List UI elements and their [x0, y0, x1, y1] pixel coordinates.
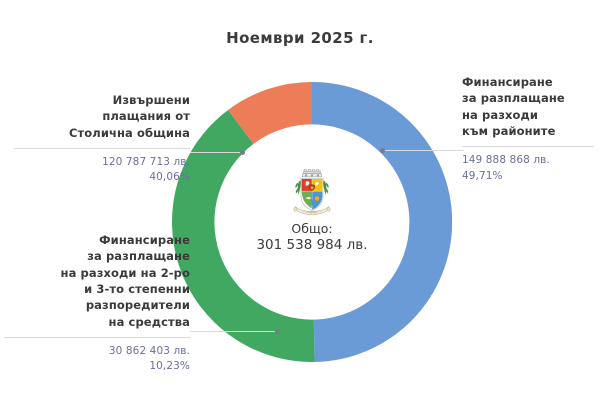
callout-heading-line: Столична община: [14, 125, 190, 141]
leader-dot-right: [380, 148, 385, 153]
callout-value: 120 787 713 лв.: [14, 155, 190, 170]
callout-heading-line: на средства: [4, 314, 190, 330]
callout-heading-line: плащания от: [14, 108, 190, 124]
callout-label-districts-financing[interactable]: Финансиране за разплащане на разходи към…: [462, 74, 594, 184]
callout-divider: [4, 337, 190, 338]
svg-text:СОФИЯ: СОФИЯ: [307, 212, 317, 215]
callout-percent: 49,71%: [462, 169, 594, 184]
callout-heading: Финансиране за разплащане на разходи на …: [4, 232, 190, 330]
leader-dot-top-left: [240, 150, 245, 155]
callout-percent: 40,06%: [14, 170, 190, 185]
callout-label-sofia-municipality-payments[interactable]: Извършени плащания от Столична община 12…: [14, 92, 190, 185]
callout-value: 149 888 868 лв.: [462, 153, 594, 168]
callout-heading-line: на разходи: [462, 107, 594, 123]
callout-percent: 10,23%: [4, 359, 190, 374]
callout-heading-line: за разплащане: [4, 248, 190, 264]
leader-dot-bottom-left: [275, 329, 280, 334]
callout-heading: Финансиране за разплащане на разходи към…: [462, 74, 594, 139]
donut-center-hub: СОФИЯ Общо: 301 538 984 лв.: [239, 149, 385, 295]
callout-heading: Извършени плащания от Столична община: [14, 92, 190, 141]
callout-heading-line: за разплащане: [462, 90, 594, 106]
page-title: Ноември 2025 г.: [0, 29, 600, 47]
callout-heading-line: Финансиране: [4, 232, 190, 248]
leader-line-right: [382, 150, 464, 151]
leader-line-bottom-left: [190, 331, 278, 332]
callout-heading-line: на разходи на 2-ро: [4, 265, 190, 281]
callout-heading-line: Финансиране: [462, 74, 594, 90]
center-total-label: Общо:: [291, 221, 332, 237]
callout-divider: [462, 146, 594, 147]
callout-value: 30 862 403 лв.: [4, 344, 190, 359]
callout-label-second-third-level-spending-units[interactable]: Финансиране за разплащане на разходи на …: [4, 232, 190, 374]
callout-heading-line: разпоредители: [4, 297, 190, 313]
center-total-value: 301 538 984 лв.: [256, 237, 367, 254]
callout-heading-line: към районите: [462, 123, 594, 139]
callout-heading-line: Извършени: [14, 92, 190, 108]
callout-divider: [14, 148, 190, 149]
callout-heading-line: и 3-то степенни: [4, 281, 190, 297]
sofia-municipality-coat-of-arms-icon: СОФИЯ: [289, 169, 335, 217]
leader-line-top-left: [190, 152, 243, 153]
